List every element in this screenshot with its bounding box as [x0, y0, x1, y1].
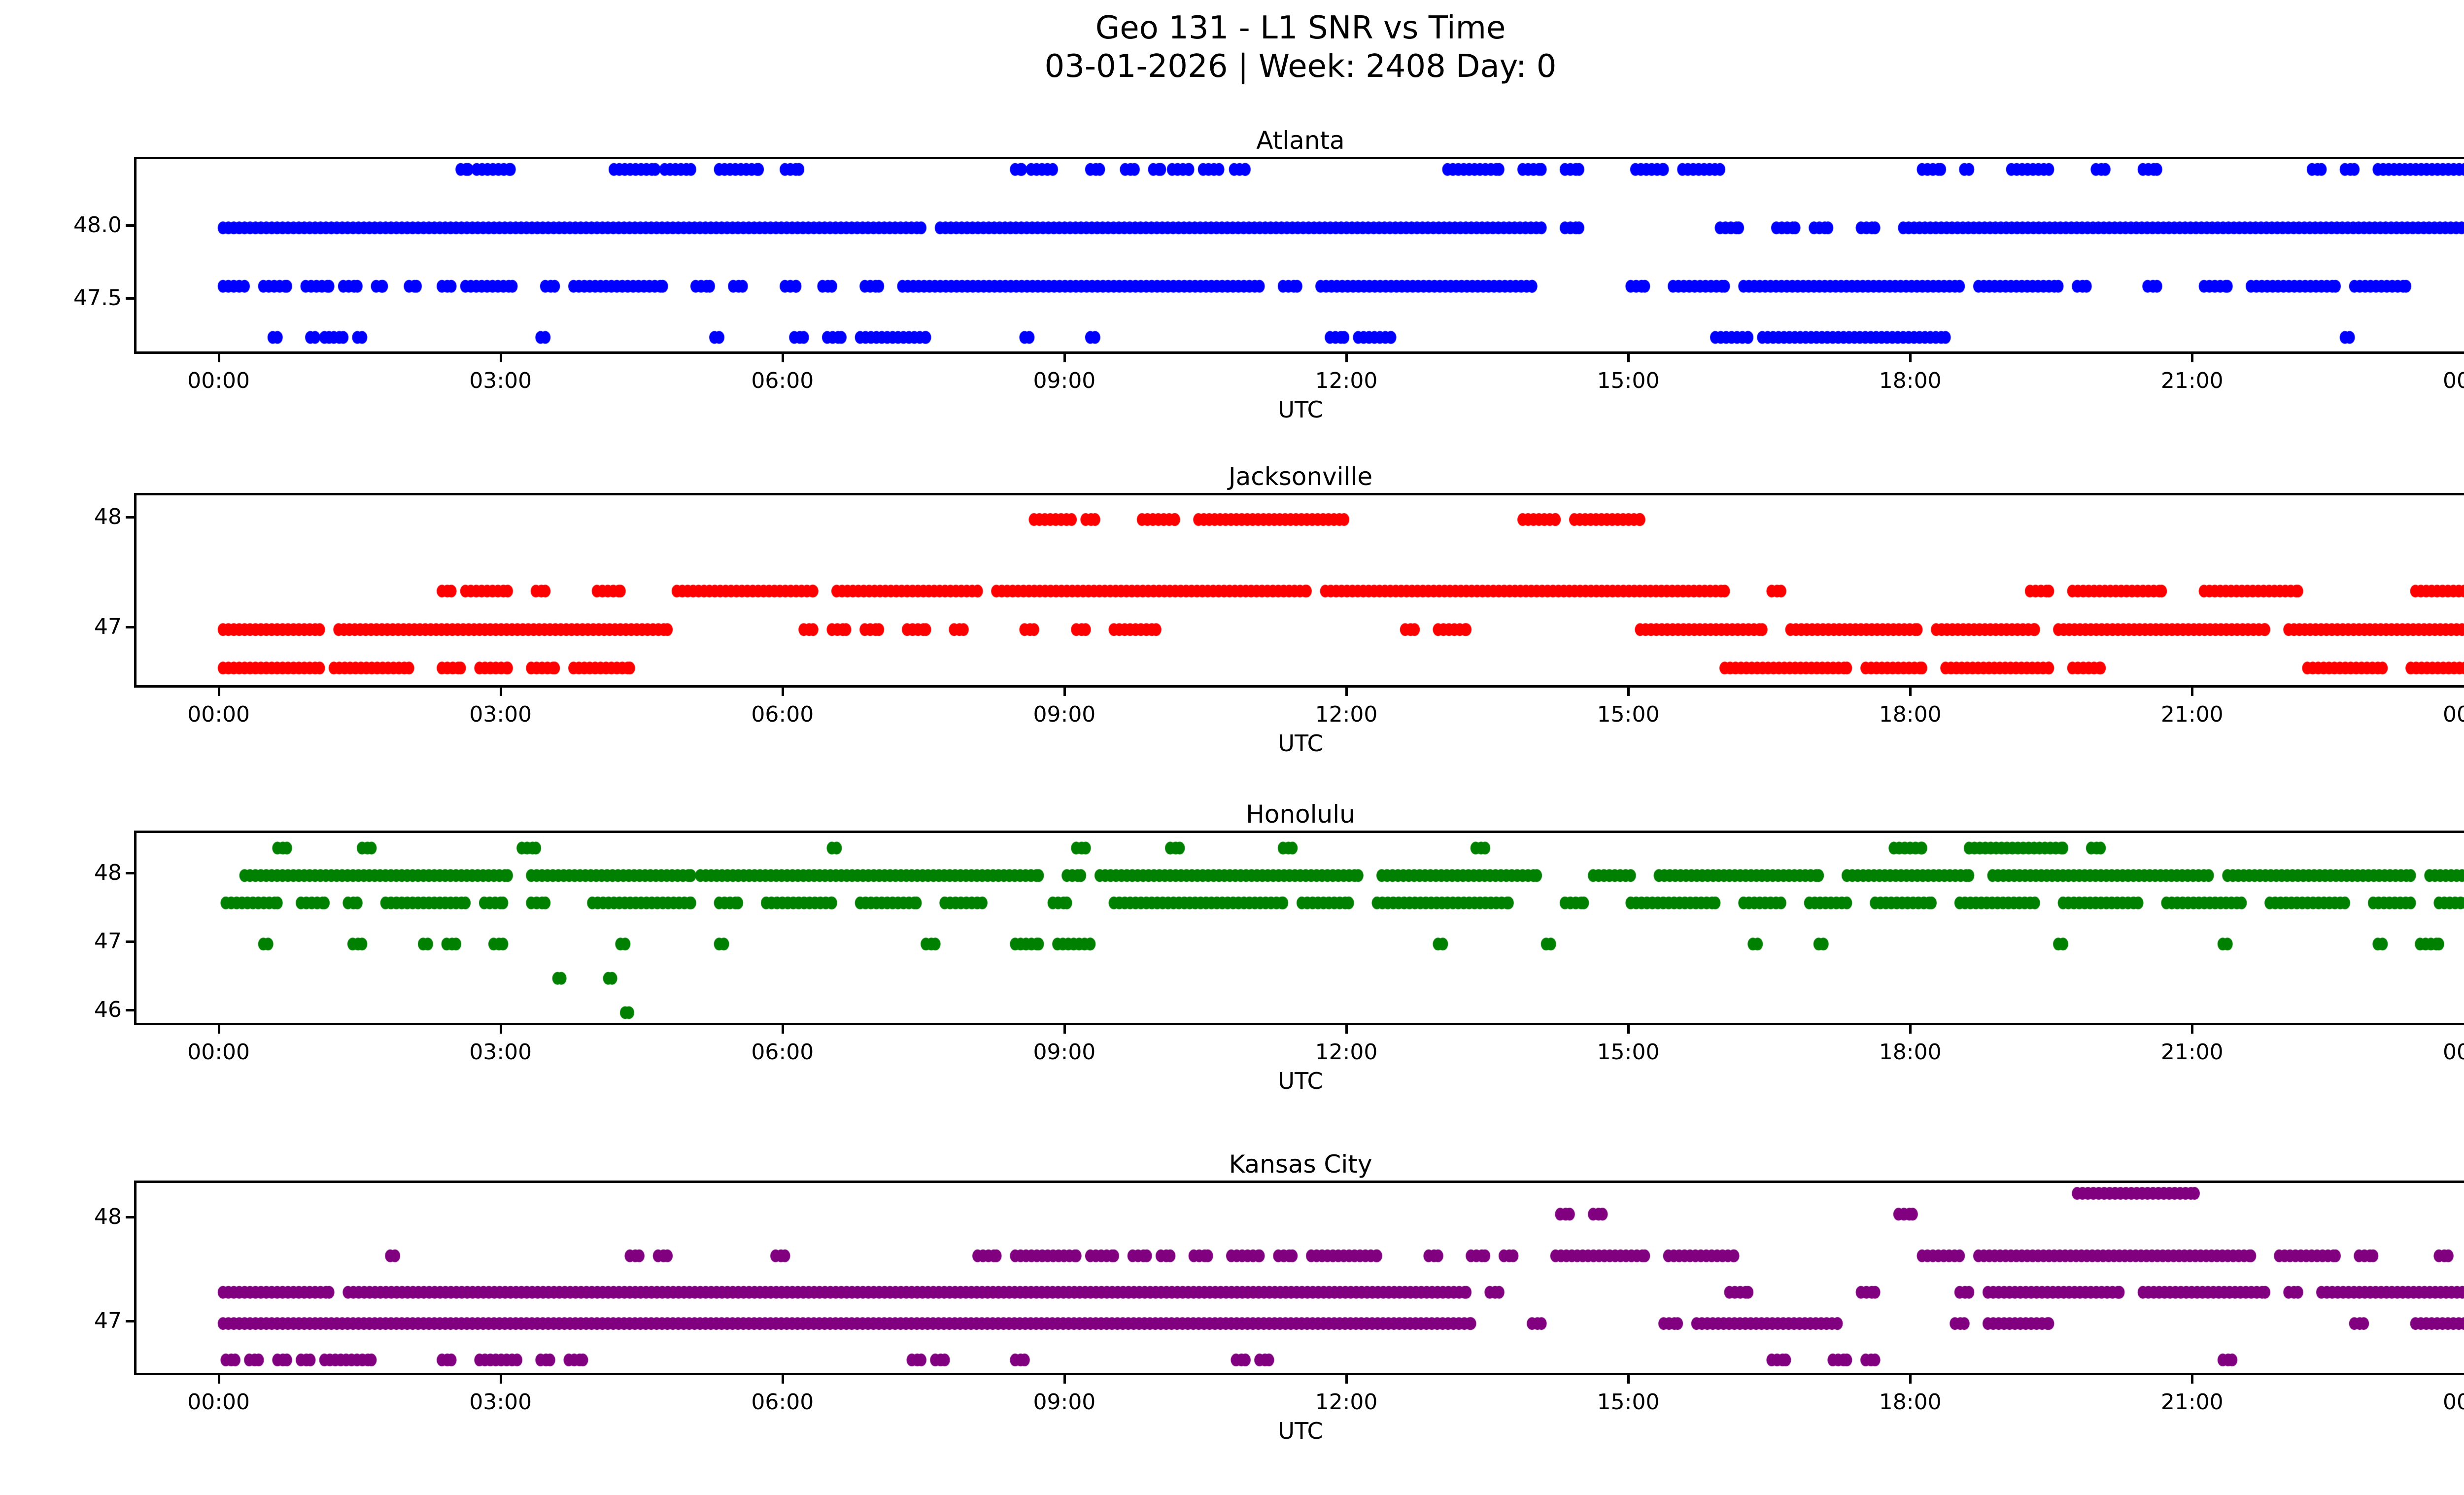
subplot-title-jacksonville: Jacksonville [0, 462, 2464, 491]
scatter-layer-jacksonville [137, 495, 2464, 688]
x-tick-mark [782, 1375, 784, 1384]
x-tick-label: 09:00 [991, 369, 1138, 393]
x-tick-label: 06:00 [709, 1040, 856, 1065]
x-tick-mark [1345, 354, 1348, 362]
x-tick-label: 21:00 [2118, 1390, 2266, 1415]
x-tick-mark [2191, 688, 2193, 696]
x-tick-mark [218, 688, 220, 696]
plot-area-kansas-city [134, 1181, 2464, 1375]
x-tick-label: 21:00 [2118, 369, 2266, 393]
x-axis-label: UTC [0, 731, 2464, 756]
y-tick-label: 48.0 [11, 214, 122, 236]
y-tick-mark [126, 872, 134, 874]
y-tick-label: 47 [11, 1310, 122, 1332]
x-tick-label: 00:00 [2400, 1040, 2464, 1065]
x-tick-label: 12:00 [1272, 1040, 1420, 1065]
scatter-layer-honolulu [137, 833, 2464, 1025]
x-tick-label: 00:00 [145, 369, 293, 393]
x-tick-label: 18:00 [1836, 369, 1984, 393]
x-tick-mark [1909, 354, 1912, 362]
x-tick-label: 12:00 [1272, 702, 1420, 727]
y-tick-label: 47 [11, 616, 122, 638]
x-tick-label: 09:00 [991, 702, 1138, 727]
y-tick-label: 47 [11, 931, 122, 952]
x-tick-label: 15:00 [1554, 369, 1702, 393]
figure-canvas: Geo 131 - L1 SNR vs Time 03-01-2026 | We… [0, 0, 2464, 1495]
x-tick-mark [2191, 1025, 2193, 1034]
x-tick-mark [500, 354, 502, 362]
x-tick-label: 18:00 [1836, 1390, 1984, 1415]
x-tick-label: 15:00 [1554, 702, 1702, 727]
y-tick-mark [126, 1009, 134, 1011]
subplot-title-kansas-city: Kansas City [0, 1150, 2464, 1179]
y-tick-mark [126, 1320, 134, 1322]
x-tick-mark [1909, 1375, 1912, 1384]
x-tick-label: 18:00 [1836, 702, 1984, 727]
x-axis-label: UTC [0, 1419, 2464, 1443]
x-tick-mark [218, 1375, 220, 1384]
x-tick-label: 12:00 [1272, 1390, 1420, 1415]
x-tick-label: 00:00 [2400, 702, 2464, 727]
plot-area-atlanta [134, 157, 2464, 354]
x-tick-mark [782, 1025, 784, 1034]
x-tick-mark [782, 354, 784, 362]
x-tick-mark [782, 688, 784, 696]
x-tick-mark [1627, 688, 1630, 696]
x-tick-mark [1627, 1375, 1630, 1384]
x-tick-label: 03:00 [427, 702, 575, 727]
x-tick-label: 00:00 [145, 702, 293, 727]
scatter-layer-kansas-city [137, 1183, 2464, 1375]
x-tick-label: 03:00 [427, 1390, 575, 1415]
y-tick-mark [126, 626, 134, 628]
x-tick-mark [1627, 354, 1630, 362]
figure-suptitle: Geo 131 - L1 SNR vs Time 03-01-2026 | We… [0, 9, 2464, 86]
x-tick-mark [500, 1375, 502, 1384]
x-tick-mark [1345, 1375, 1348, 1384]
x-tick-label: 21:00 [2118, 1040, 2266, 1065]
x-tick-mark [1909, 1025, 1912, 1034]
y-tick-label: 48 [11, 506, 122, 528]
x-tick-mark [1345, 1025, 1348, 1034]
x-axis-label: UTC [0, 397, 2464, 422]
plot-area-honolulu [134, 831, 2464, 1025]
y-tick-label: 48 [11, 862, 122, 884]
y-tick-mark [126, 297, 134, 300]
x-tick-mark [1063, 1025, 1066, 1034]
x-tick-label: 18:00 [1836, 1040, 1984, 1065]
scatter-layer-atlanta [137, 159, 2464, 354]
y-tick-mark [126, 1216, 134, 1218]
suptitle-line-1: Geo 131 - L1 SNR vs Time [0, 9, 2464, 47]
y-tick-mark [126, 940, 134, 943]
x-tick-label: 03:00 [427, 1040, 575, 1065]
x-tick-label: 09:00 [991, 1390, 1138, 1415]
x-tick-mark [1909, 688, 1912, 696]
y-tick-mark [126, 224, 134, 227]
x-tick-mark [1345, 688, 1348, 696]
x-tick-label: 00:00 [2400, 369, 2464, 393]
x-tick-mark [500, 1025, 502, 1034]
plot-area-jacksonville [134, 493, 2464, 688]
y-tick-label: 46 [11, 999, 122, 1021]
x-tick-mark [1063, 354, 1066, 362]
y-tick-label: 48 [11, 1206, 122, 1228]
x-tick-label: 00:00 [2400, 1390, 2464, 1415]
x-tick-mark [2191, 354, 2193, 362]
x-tick-label: 06:00 [709, 702, 856, 727]
x-tick-label: 15:00 [1554, 1390, 1702, 1415]
x-tick-label: 03:00 [427, 369, 575, 393]
x-tick-label: 06:00 [709, 1390, 856, 1415]
subplot-title-honolulu: Honolulu [0, 800, 2464, 829]
x-tick-label: 00:00 [145, 1390, 293, 1415]
x-tick-mark [1063, 688, 1066, 696]
x-tick-mark [218, 1025, 220, 1034]
x-tick-label: 12:00 [1272, 369, 1420, 393]
x-axis-label: UTC [0, 1069, 2464, 1093]
x-tick-label: 00:00 [145, 1040, 293, 1065]
y-tick-label: 47.5 [11, 287, 122, 309]
x-tick-mark [1063, 1375, 1066, 1384]
x-tick-mark [500, 688, 502, 696]
subplot-title-atlanta: Atlanta [0, 126, 2464, 155]
x-tick-label: 06:00 [709, 369, 856, 393]
x-tick-label: 09:00 [991, 1040, 1138, 1065]
suptitle-line-2: 03-01-2026 | Week: 2408 Day: 0 [0, 47, 2464, 86]
x-tick-mark [1627, 1025, 1630, 1034]
y-tick-mark [126, 516, 134, 519]
x-tick-mark [2191, 1375, 2193, 1384]
x-tick-label: 15:00 [1554, 1040, 1702, 1065]
x-tick-label: 21:00 [2118, 702, 2266, 727]
x-tick-mark [218, 354, 220, 362]
